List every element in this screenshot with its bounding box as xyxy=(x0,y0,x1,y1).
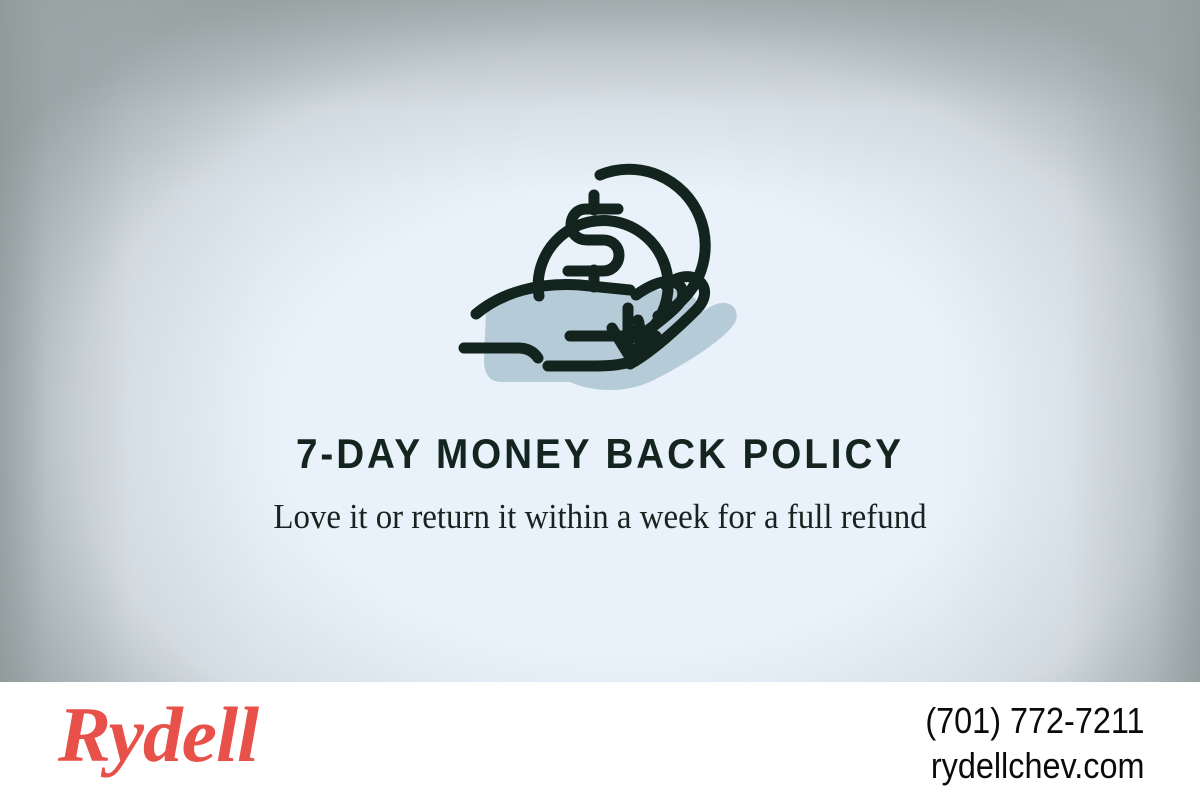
hero-section: 7-DAY MONEY BACK POLICY Love it or retur… xyxy=(0,0,1200,682)
contact-block: (701) 772-7211 rydellchev.com xyxy=(926,698,1145,789)
money-back-in-hand-icon xyxy=(440,140,760,400)
page-subtitle: Love it or return it within a week for a… xyxy=(252,494,948,540)
dollar-sign xyxy=(568,195,619,287)
website-url[interactable]: rydellchev.com xyxy=(926,743,1145,788)
rydell-logo[interactable]: Rydell xyxy=(58,696,258,774)
page-title: 7-DAY MONEY BACK POLICY xyxy=(48,432,1152,476)
promo-card: 7-DAY MONEY BACK POLICY Love it or retur… xyxy=(0,0,1200,800)
phone-number[interactable]: (701) 772-7211 xyxy=(926,698,1145,743)
footer-bar: Rydell (701) 772-7211 rydellchev.com xyxy=(0,682,1200,800)
